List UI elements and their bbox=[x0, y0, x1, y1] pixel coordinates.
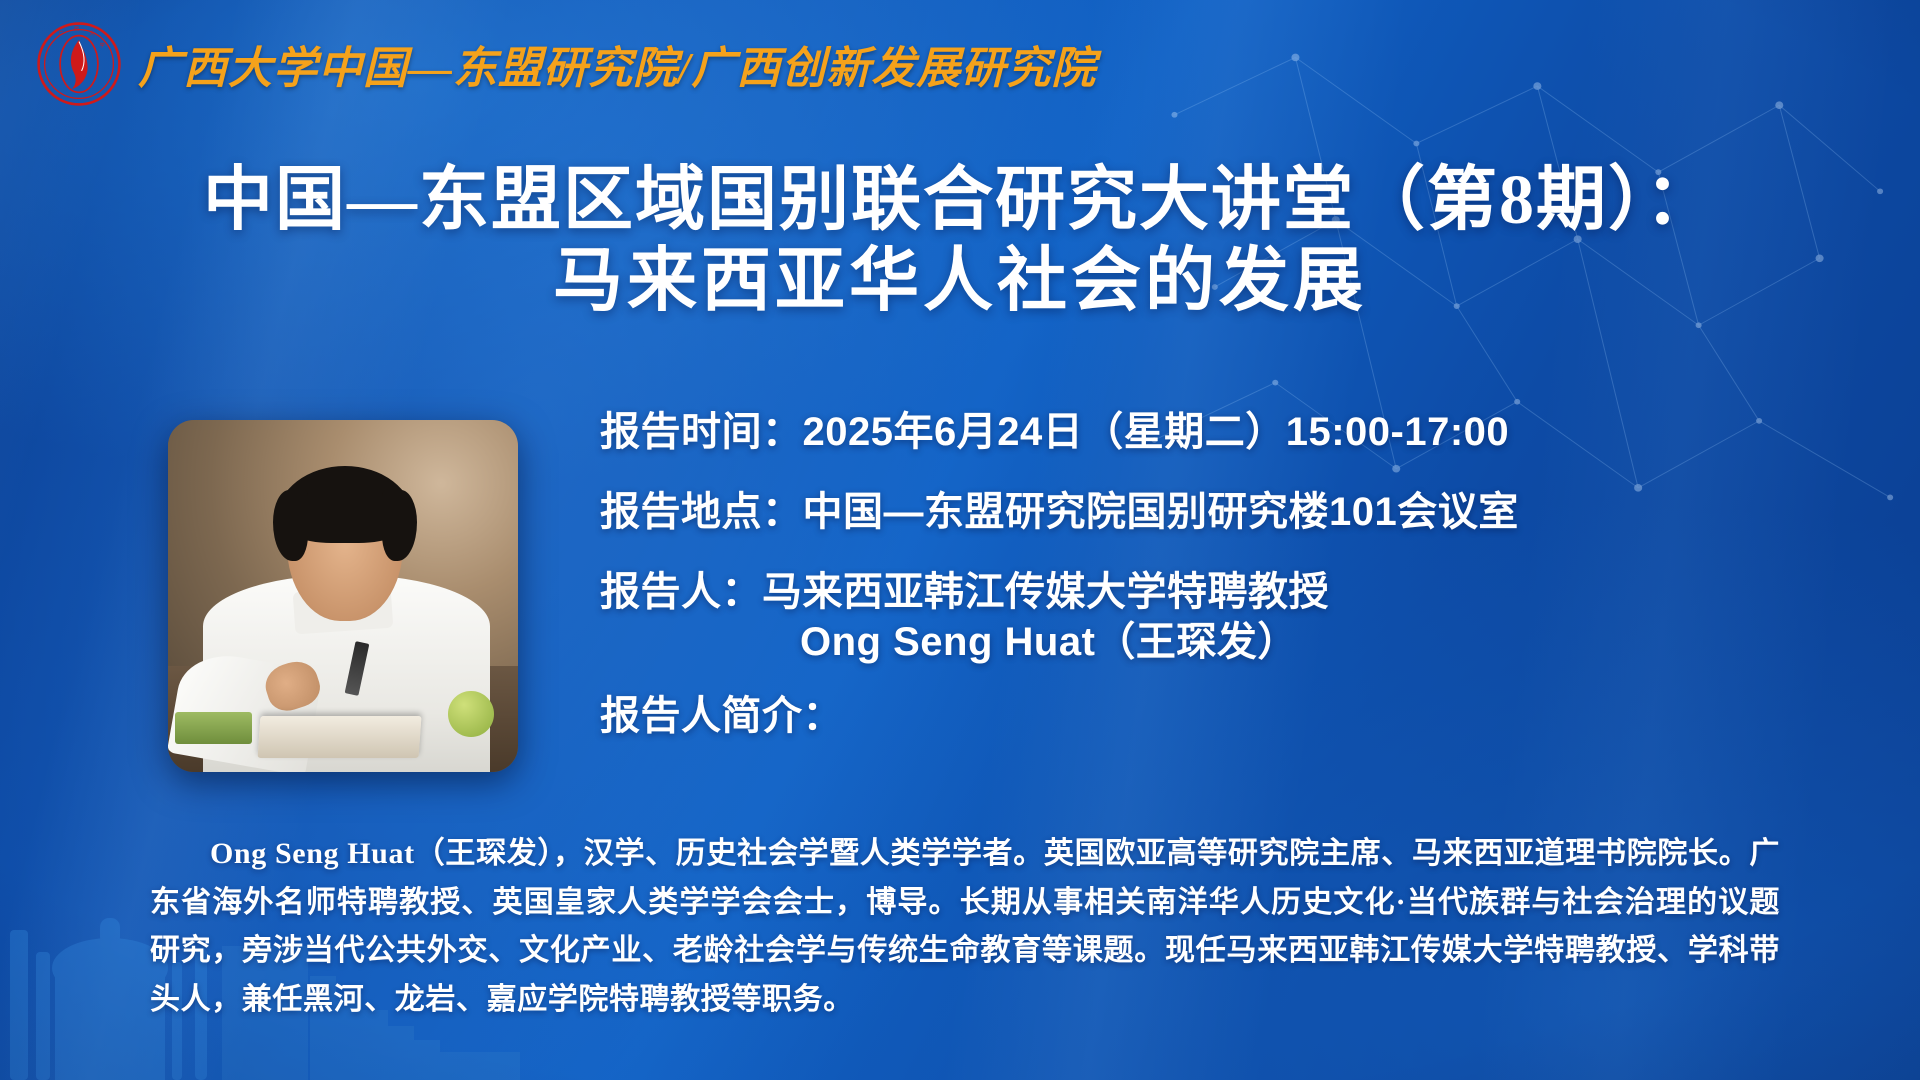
bio-heading: 报告人简介： bbox=[600, 694, 1870, 738]
poster-header: 广西大 学 广西大学中国—东盟研究院/广西创新发展研究院 bbox=[0, 0, 1920, 128]
event-speaker-title: 报告人：马来西亚韩江传媒大学特聘教授 bbox=[600, 570, 1870, 614]
svg-text:西: 西 bbox=[74, 25, 79, 32]
event-venue: 报告地点：中国—东盟研究院国别研究楼101会议室 bbox=[600, 490, 1870, 534]
portrait-open-book bbox=[258, 716, 422, 758]
svg-text:学: 学 bbox=[100, 41, 105, 49]
poster-canvas: 广西大 学 广西大学中国—东盟研究院/广西创新发展研究院 中国—东盟区域国别联合… bbox=[0, 0, 1920, 1080]
svg-text:大: 大 bbox=[89, 29, 94, 37]
poster-title: 中国—东盟区域国别联合研究大讲堂（第8期）： 马来西亚华人社会的发展 bbox=[0, 160, 1920, 322]
event-time: 报告时间：2025年6月24日（星期二）15:00-17:00 bbox=[600, 410, 1870, 454]
university-seal-icon: 广西大 学 bbox=[36, 21, 122, 107]
title-line-2: 马来西亚华人社会的发展 bbox=[60, 241, 1860, 322]
event-details: 报告时间：2025年6月24日（星期二）15:00-17:00 报告地点：中国—… bbox=[600, 410, 1870, 738]
svg-text:广: 广 bbox=[58, 29, 63, 37]
title-line-1: 中国—东盟区域国别联合研究大讲堂（第8期）： bbox=[60, 160, 1860, 241]
organization-name: 广西大学中国—东盟研究院/广西创新发展研究院 bbox=[138, 32, 1096, 96]
portrait-fruit bbox=[448, 691, 494, 737]
portrait-hair-left bbox=[273, 490, 308, 560]
speaker-portrait bbox=[168, 420, 518, 772]
event-speaker-name: Ong Seng Huat（王琛发） bbox=[600, 620, 1870, 664]
portrait-green-book bbox=[175, 712, 252, 744]
speaker-biography: Ong Seng Huat（王琛发），汉学、历史社会学暨人类学学者。英国欧亚高等… bbox=[150, 830, 1780, 1024]
